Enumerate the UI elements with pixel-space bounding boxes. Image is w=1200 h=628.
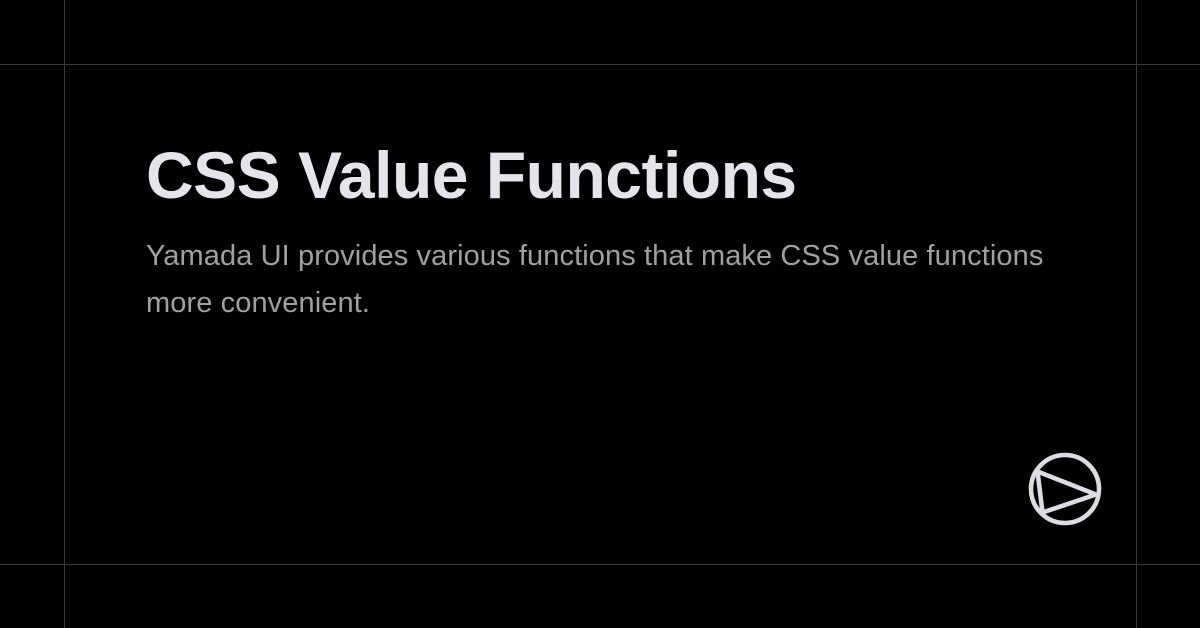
page-title: CSS Value Functions	[146, 140, 1066, 211]
page-description: Yamada UI provides various functions tha…	[146, 211, 1051, 327]
yamada-ui-logo-icon	[1025, 449, 1105, 529]
grid-line-bottom	[0, 564, 1200, 565]
og-card: CSS Value Functions Yamada UI provides v…	[0, 0, 1200, 628]
grid-line-left	[64, 0, 65, 628]
grid-line-top	[0, 64, 1200, 65]
grid-line-right	[1136, 0, 1137, 628]
card-content: CSS Value Functions Yamada UI provides v…	[146, 140, 1066, 327]
